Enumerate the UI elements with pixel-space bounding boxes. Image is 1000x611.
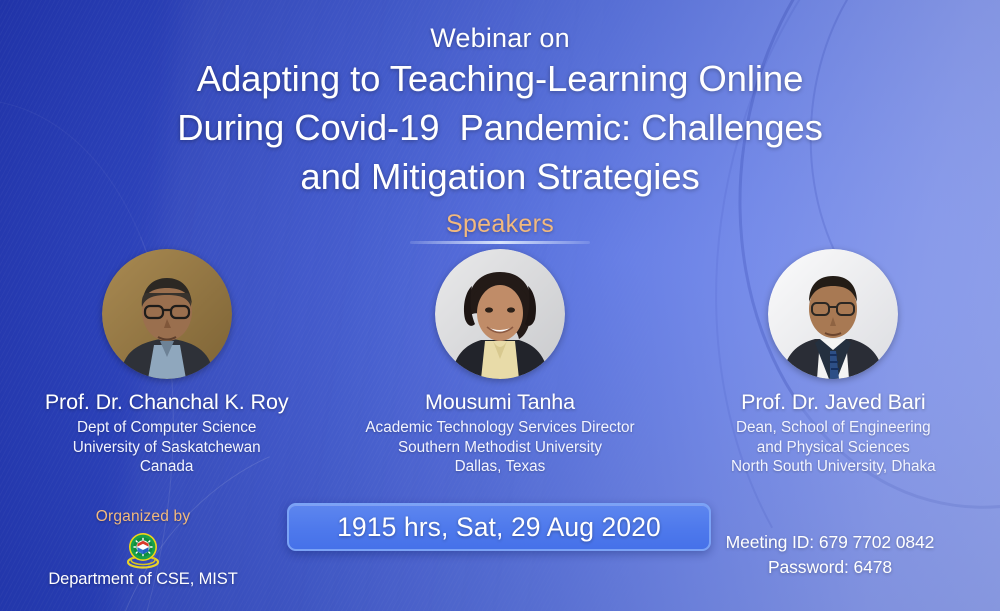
speaker-name: Prof. Dr. Javed Bari bbox=[673, 390, 993, 415]
datetime-banner[interactable]: 1915 hrs, Sat, 29 Aug 2020 bbox=[287, 503, 711, 551]
mist-crest-logo-icon bbox=[123, 529, 163, 569]
speaker-card: Prof. Dr. Chanchal K. Roy Dept of Comput… bbox=[7, 249, 327, 477]
meeting-id: Meeting ID: 679 7702 0842 bbox=[680, 530, 980, 555]
webinar-kicker: Webinar on bbox=[0, 23, 1000, 54]
page-title: Adapting to Teaching-Learning Online Dur… bbox=[0, 54, 1000, 201]
speaker-name: Prof. Dr. Chanchal K. Roy bbox=[7, 390, 327, 415]
organizer-block: Organized by bbox=[23, 508, 263, 589]
organizer-department: Department of CSE, MIST bbox=[23, 570, 263, 589]
speaker-details: Dean, School of Engineering and Physical… bbox=[673, 418, 993, 477]
speaker-card: Mousumi Tanha Academic Technology Servic… bbox=[340, 249, 660, 477]
speakers-heading: Speakers bbox=[0, 210, 1000, 239]
speaker-details: Dept of Computer Science University of S… bbox=[7, 418, 327, 477]
avatar bbox=[768, 249, 898, 379]
speaker-name: Mousumi Tanha bbox=[340, 390, 660, 415]
avatar bbox=[435, 249, 565, 379]
organized-by-label: Organized by bbox=[23, 508, 263, 526]
speakers-row: Prof. Dr. Chanchal K. Roy Dept of Comput… bbox=[0, 249, 1000, 477]
meeting-info: Meeting ID: 679 7702 0842 Password: 6478 bbox=[680, 530, 980, 580]
meeting-password: Password: 6478 bbox=[680, 555, 980, 580]
avatar bbox=[102, 249, 232, 379]
portrait-chanchal-k-roy-icon bbox=[102, 249, 232, 379]
speakers-divider bbox=[410, 241, 590, 244]
datetime-text: 1915 hrs, Sat, 29 Aug 2020 bbox=[337, 512, 661, 543]
portrait-javed-bari-icon bbox=[768, 249, 898, 379]
webinar-poster: Webinar on Adapting to Teaching-Learning… bbox=[0, 0, 1000, 611]
speaker-details: Academic Technology Services Director So… bbox=[340, 418, 660, 477]
speaker-card: Prof. Dr. Javed Bari Dean, School of Eng… bbox=[673, 249, 993, 477]
portrait-mousumi-tanha-icon bbox=[435, 249, 565, 379]
